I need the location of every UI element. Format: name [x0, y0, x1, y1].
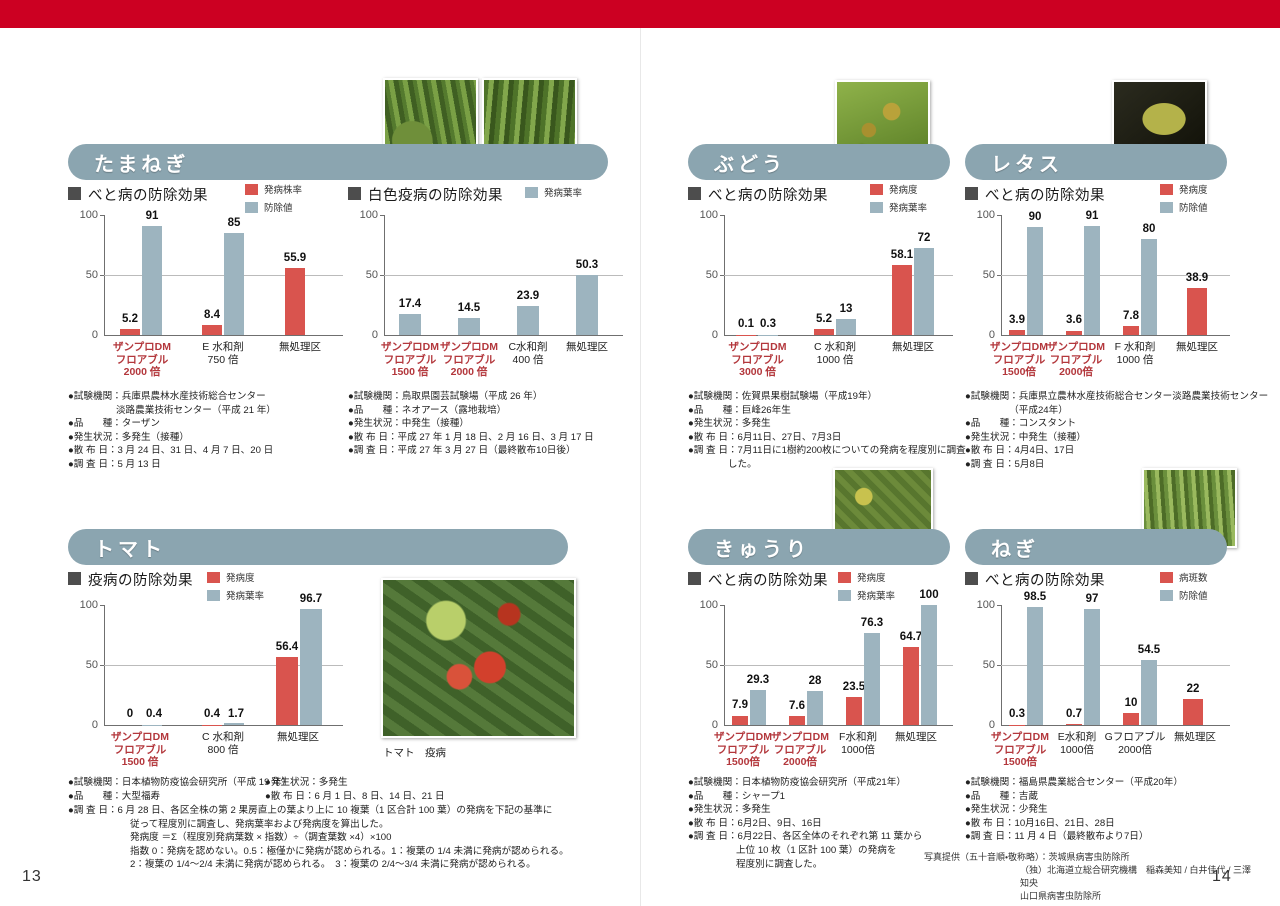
tomato-photo-caption: トマト 疫病: [383, 745, 446, 760]
bar-tomato-1-red: [202, 725, 222, 726]
section-pill-grape: ぶどう: [688, 144, 950, 180]
chart-title-text: 疫病の防除効果: [88, 569, 193, 590]
x-category-label: 無処理区: [868, 341, 958, 354]
note-line: ●発生状況：中発生（接種）: [348, 417, 638, 431]
note-value: ：5月8日: [1005, 458, 1044, 472]
y-tick-mark: [100, 665, 104, 666]
note-key: ●発生状況: [265, 776, 309, 790]
bullet-square-icon: [348, 187, 361, 200]
y-tick-label: 0: [68, 329, 98, 341]
bar-onion-0-blue: [142, 226, 162, 335]
note-line: ●品 種：ネオアース（露地栽培）: [348, 404, 638, 418]
note-key: ●品 種: [965, 790, 1009, 804]
note-key: ●品 種: [688, 404, 732, 418]
page-spine-divider: [640, 28, 641, 906]
note-key: ●散 布 日: [965, 444, 1005, 458]
note-value: ：平成 27 年 3 月 27 日（最終散布10日後）: [388, 444, 576, 458]
bar-value-label: 13: [824, 303, 868, 315]
note-line: ●調 査 日：11 月 4 日（最終散布より7日）: [965, 830, 1265, 844]
note-line: ●試験機関：鳥取県園芸試験場（平成 26 年）: [348, 390, 638, 404]
y-tick-mark: [380, 275, 384, 276]
bar-value-label: 0.4: [132, 708, 176, 720]
note-line: ●散 布 日：6月2日、9日、16日: [688, 817, 978, 831]
page-number-right: 14: [1212, 868, 1232, 886]
chart-plot-onion: 100 50 0 5.2 91 8.4 85 55.9 ザンプロDM フロアブル…: [68, 215, 343, 345]
y-tick-mark: [720, 605, 724, 606]
chart-title-grape: べと病の防除効果: [688, 184, 828, 205]
legend-item: 発病葉率: [525, 185, 582, 199]
note-value: ：大型福寿: [112, 790, 160, 804]
note-line: ●調 査 日：6月22日、各区全体のそれぞれ第 11 葉から: [688, 830, 978, 844]
bar-lettuce-1-red: [1066, 331, 1082, 336]
note-value: ：11 月 4 日（最終散布より7日）: [1005, 830, 1149, 844]
note-value: ：少発生: [1009, 803, 1047, 817]
note-value: ：3 月 24 日、31 日、4 月 7 日、20 日: [108, 444, 273, 458]
note-line: ●散 布 日：4月4日、17日: [965, 444, 1275, 458]
note-key: ●試験機関: [965, 776, 1009, 790]
section-pill-lettuce: レタス: [965, 144, 1227, 180]
note-line: ●品 種：コンスタント: [965, 417, 1275, 431]
y-tick-mark: [720, 665, 724, 666]
legend-label: 病斑数: [1179, 570, 1208, 584]
note-line: ●発生状況：中発生（接種）: [965, 431, 1275, 445]
credits-line: （独）北海道立総合研究機構 稲森美知 / 白井佳代 / 三澤知央: [924, 864, 1254, 890]
chart-title-text: べと病の防除効果: [985, 569, 1105, 590]
note-line: ●品 種：巨峰26年生: [688, 404, 973, 418]
top-red-banner: [0, 0, 1280, 28]
legend-swatch-red: [870, 184, 883, 195]
note-key: ●調 査 日: [688, 444, 728, 471]
note-line: ●調 査 日：5月8日: [965, 458, 1275, 472]
note-value: ：ネオアース（露地栽培）: [392, 404, 506, 418]
bar-onionwhite-1: [458, 318, 480, 335]
note-line: ●散 布 日：6 月 1 日、8 日、14 日、21 日: [265, 790, 555, 804]
bar-onionwhite-0: [399, 314, 421, 335]
legend-label: 防除値: [264, 200, 293, 214]
bar-value-label: 100: [908, 589, 950, 601]
note-line: ●調 査 日：6 月 28 日、各区全株の第 2 果房直上の葉より上に 10 複…: [68, 804, 628, 818]
y-tick-mark: [100, 215, 104, 216]
bar-value-label: 55.9: [271, 252, 319, 264]
bar-grape-2-blue: [914, 248, 934, 335]
note-line: ●散 布 日：6月11日、27日、7月3日: [688, 431, 973, 445]
legend-cucumber: 発病度 発病葉率: [838, 570, 895, 606]
chart-title-negi: べと病の防除効果: [965, 569, 1105, 590]
y-tick-label: 0: [688, 329, 718, 341]
y-tick-label: 100: [68, 599, 98, 611]
legend-onion-white: 発病葉率: [525, 185, 582, 203]
chart-title-text: べと病の防除効果: [88, 184, 208, 205]
bar-tomato-1-blue: [224, 723, 244, 725]
chart-title-onion-white: 白色疫病の防除効果: [348, 184, 503, 205]
x-axis: [1001, 335, 1230, 336]
x-category-label: 無処理区: [876, 731, 956, 744]
x-category-label: 無処理区: [1155, 731, 1235, 744]
notes-grape: ●試験機関：佐賀県果樹試験場（平成19年） ●品 種：巨峰26年生 ●発生状況：…: [688, 390, 973, 472]
note-key: ●品 種: [68, 417, 112, 431]
note-value: ：10月16日、21日、28日: [1005, 817, 1115, 831]
legend-label: 発病度: [1179, 182, 1208, 196]
note-key: ●発生状況: [688, 803, 732, 817]
bar-onionwhite-3: [576, 275, 598, 335]
legend-swatch-red: [245, 184, 258, 195]
legend-item: 防除値: [1160, 200, 1208, 214]
x-axis: [724, 725, 953, 726]
note-value: 上位 10 枚（1 区計 100 葉）の発病を: [688, 844, 896, 858]
note-key: ●品 種: [688, 790, 732, 804]
bar-value-label: 72: [902, 232, 946, 244]
y-tick-label: 100: [68, 209, 98, 221]
bar-value-label: 38.9: [1174, 272, 1220, 284]
bar-value-label: 80: [1130, 223, 1168, 235]
x-category-label: 無処理区: [547, 341, 627, 354]
legend-label: 防除値: [1179, 200, 1208, 214]
bar-value-label: 17.4: [386, 298, 434, 310]
legend-negi: 病斑数 防除値: [1160, 570, 1208, 606]
legend-item: 発病葉率: [207, 588, 264, 602]
note-line: ●品 種：シャープ1: [688, 790, 978, 804]
y-tick-label: 100: [348, 209, 378, 221]
note-line: ●試験機関：佐賀県果樹試験場（平成19年）: [688, 390, 973, 404]
note-value: ：多発生: [732, 417, 770, 431]
legend-item: 防除値: [1160, 588, 1208, 602]
note-key: ●発生状況: [688, 417, 732, 431]
notes-tomato-survey: ●調 査 日：6 月 28 日、各区全株の第 2 果房直上の葉より上に 10 複…: [68, 804, 628, 872]
bar-lettuce-1-blue: [1084, 226, 1100, 335]
note-line: ●散 布 日：3 月 24 日、31 日、4 月 7 日、20 日: [68, 444, 348, 458]
note-key: ●試験機関: [68, 390, 112, 404]
bullet-square-icon: [68, 572, 81, 585]
y-tick-label: 50: [688, 269, 718, 281]
note-line: ●調 査 日：平成 27 年 3 月 27 日（最終散布10日後）: [348, 444, 638, 458]
note-value: ：6月22日、各区全体のそれぞれ第 11 葉から: [728, 830, 922, 844]
chart-plot-grape: 100 50 0 0.1 0.3 5.2 13 58.1 72 ザンプロDM フ…: [688, 215, 953, 345]
y-tick-mark: [997, 275, 1001, 276]
y-tick-label: 0: [965, 329, 995, 341]
note-line: ●調 査 日：5 月 13 日: [68, 458, 348, 472]
page-number-left: 13: [22, 868, 42, 886]
note-key: ●調 査 日: [965, 458, 1005, 472]
note-value: ：6月11日、27日、7月3日: [728, 431, 841, 445]
chart-title-text: べと病の防除効果: [708, 184, 828, 205]
x-category-label: ザンプロDM フロアブル 1500 倍: [92, 731, 188, 769]
bar-value-label: 22: [1171, 683, 1215, 695]
bar-value-label: 54.5: [1128, 644, 1170, 656]
x-axis: [104, 725, 343, 726]
document-page: べと病 白色疫病 べと病 べと病 べと病 べと病 トマト 疫病 たまねぎ べと病…: [0, 0, 1280, 906]
bar-lettuce-3-red: [1187, 288, 1207, 335]
note-line: ●発生状況：多発生: [265, 776, 555, 790]
note-key: ●品 種: [965, 417, 1009, 431]
chart-title-cucumber: べと病の防除効果: [688, 569, 828, 590]
note-continuation: 2：複葉の 1/4〜2/4 未満に発病が認められる。 3：複葉の 2/4〜3/4…: [68, 858, 628, 872]
note-key: ●品 種: [348, 404, 392, 418]
note-value: ：7月11日に1樹約200枚についての発病を程度別に調査した。: [728, 444, 973, 471]
note-value: ：福島県農業総合センター（平成20年）: [1009, 776, 1183, 790]
bar-tomato-2-red: [276, 657, 298, 725]
bar-value-label: 1.7: [214, 708, 258, 720]
note-value: ：多発生: [732, 803, 770, 817]
bar-onion-2-red: [285, 268, 305, 335]
note-key: ●散 布 日: [348, 431, 388, 445]
chart-plot-lettuce: 100 50 0 3.9 90 3.6 91 7.8 80 38.9 ザンプロD…: [965, 215, 1230, 345]
x-category-label: ザンプロDM フロアブル 2000 倍: [92, 341, 192, 379]
note-key: ●発生状況: [348, 417, 392, 431]
y-tick-label: 50: [688, 659, 718, 671]
legend-label: 発病葉率: [544, 185, 582, 199]
section-pill-negi: ねぎ: [965, 529, 1227, 565]
legend-tomato: 発病度 発病葉率: [207, 570, 264, 606]
bullet-square-icon: [688, 187, 701, 200]
legend-swatch-red: [1160, 184, 1173, 195]
note-line: ●調 査 日：7月11日に1樹約200枚についての発病を程度別に調査した。: [688, 444, 973, 471]
bar-value-label: 0.3: [746, 318, 790, 330]
x-category-label: 無処理区: [1158, 341, 1236, 354]
chart-plot-negi: 100 50 0 0.3 98.5 0.7 97 10 54.5 22 ザンプロ…: [965, 605, 1230, 735]
note-value: ：兵庫県立農林水産技術総合センター淡路農業技術センター（平成24年）: [1009, 390, 1275, 417]
bar-cucumber-1-blue: [807, 691, 823, 725]
note-line: 淡路農業技術センター（平成 21 年）: [68, 404, 348, 418]
section-pill-label: たまねぎ: [68, 148, 189, 177]
x-axis: [384, 335, 623, 336]
legend-swatch-blue: [1160, 590, 1173, 601]
legend-label: 発病葉率: [857, 588, 895, 602]
chart-title-onion: べと病の防除効果: [68, 184, 208, 205]
note-line: ●発生状況：多発生: [688, 417, 973, 431]
note-key: ●散 布 日: [68, 444, 108, 458]
legend-lettuce: 発病度 防除値: [1160, 182, 1208, 218]
legend-label: 発病株率: [264, 182, 302, 196]
bar-negi-2-red: [1123, 713, 1139, 725]
legend-item: 発病度: [838, 570, 895, 584]
y-tick-label: 50: [68, 659, 98, 671]
note-line: ●品 種：ターザン: [68, 417, 348, 431]
note-value: ：4月4日、17日: [1005, 444, 1074, 458]
note-line: ●試験機関：日本植物防疫協会研究所（平成21年）: [688, 776, 978, 790]
note-line: ●試験機関：福島県農業総合センター（平成20年）: [965, 776, 1265, 790]
legend-item: 病斑数: [1160, 570, 1208, 584]
y-tick-label: 100: [965, 209, 995, 221]
note-value: ：6 月 28 日、各区全株の第 2 果房直上の葉より上に 10 複葉（1 区合…: [108, 804, 552, 818]
photo-credits: 写真提供（五十音順・敬称略）：茨城県病害虫防除所 （独）北海道立総合研究機構 稲…: [924, 851, 1254, 903]
x-axis: [1001, 725, 1230, 726]
x-axis: [724, 335, 953, 336]
section-pill-label: トマト: [68, 533, 166, 562]
x-category-label: C 水和剤 1000 倍: [790, 341, 880, 366]
y-tick-mark: [100, 605, 104, 606]
legend-item: 発病株率: [245, 182, 302, 196]
y-tick-label: 0: [68, 719, 98, 731]
chart-title-text: べと病の防除効果: [985, 184, 1105, 205]
note-value: 淡路農業技術センター（平成 21 年）: [68, 404, 276, 418]
bar-tomato-0-blue: [142, 725, 162, 726]
y-tick-mark: [380, 215, 384, 216]
y-tick-mark: [997, 665, 1001, 666]
legend-swatch-red: [838, 572, 851, 583]
y-tick-label: 100: [688, 599, 718, 611]
bar-value-label: 23.9: [504, 290, 552, 302]
note-continuation: 従って程度別に調査し、発病葉率および発病度を算出した。: [68, 818, 628, 832]
bar-onion-0-red: [120, 329, 140, 335]
note-line: ●発生状況：多発生（接種）: [68, 431, 348, 445]
bullet-square-icon: [688, 572, 701, 585]
note-continuation: 発病度 ＝Σ（程度別発病葉数 × 指数）÷（調査葉数 ×4）×100: [68, 831, 628, 845]
y-tick-mark: [997, 605, 1001, 606]
y-tick-label: 100: [688, 209, 718, 221]
bar-value-label: 97: [1071, 593, 1113, 605]
y-tick-label: 50: [68, 269, 98, 281]
note-key: ●調 査 日: [68, 804, 108, 818]
section-pill-label: ねぎ: [965, 533, 1039, 562]
legend-swatch-red: [207, 572, 220, 583]
note-key: ●試験機関: [688, 776, 732, 790]
note-continuation: 指数 0：発病を認めない。0.5：極僅かに発病が認められる。1：複葉の 1/4 …: [68, 845, 628, 859]
section-pill-onion: たまねぎ: [68, 144, 608, 180]
note-line: ●試験機関：兵庫県立農林水産技術総合センター淡路農業技術センター（平成24年）: [965, 390, 1275, 417]
notes-onion: ●試験機関：兵庫県農林水産技術総合センター 淡路農業技術センター（平成 21 年…: [68, 390, 348, 472]
bar-cucumber-0-red: [732, 716, 748, 726]
bar-cucumber-0-blue: [750, 690, 766, 725]
chart-title-text: 白色疫病の防除効果: [368, 184, 503, 205]
y-tick-label: 0: [965, 719, 995, 731]
bar-onion-1-red: [202, 325, 222, 335]
note-key: ●試験機関: [68, 776, 112, 790]
y-tick-label: 0: [348, 329, 378, 341]
note-value: ：吉蔵: [1009, 790, 1038, 804]
bar-cucumber-3-blue: [921, 605, 937, 725]
legend-item: 発病葉率: [870, 200, 927, 214]
bar-value-label: 96.7: [287, 593, 335, 605]
note-value: ：シャープ1: [732, 790, 785, 804]
bar-tomato-2-blue: [300, 609, 322, 725]
section-pill-label: ぶどう: [688, 148, 786, 177]
bar-value-label: 91: [1073, 210, 1111, 222]
note-key: ●調 査 日: [348, 444, 388, 458]
legend-item: 発病度: [1160, 182, 1208, 196]
chart-title-text: べと病の防除効果: [708, 569, 828, 590]
bar-grape-1-red: [814, 329, 834, 335]
y-tick-label: 0: [688, 719, 718, 731]
note-value: ：中発生（接種）: [392, 417, 469, 431]
note-key: ●散 布 日: [688, 431, 728, 445]
note-value: ：巨峰26年生: [732, 404, 791, 418]
bar-value-label: 76.3: [851, 617, 893, 629]
bar-negi-0-blue: [1027, 607, 1043, 725]
bar-lettuce-0-red: [1009, 330, 1025, 335]
note-key: ●散 布 日: [265, 790, 305, 804]
note-key: ●発生状況: [68, 431, 112, 445]
legend-item: 発病葉率: [838, 588, 895, 602]
note-key: ●試験機関: [348, 390, 392, 404]
bar-lettuce-2-blue: [1141, 239, 1157, 335]
photo-tomato-late-blight: [381, 578, 576, 738]
bar-cucumber-2-red: [846, 697, 862, 725]
note-key: ●散 布 日: [688, 817, 728, 831]
bullet-square-icon: [68, 187, 81, 200]
credits-line: 山口県病害虫防除所: [924, 890, 1254, 903]
notes-tomato-right: ●発生状況：多発生 ●散 布 日：6 月 1 日、8 日、14 日、21 日: [265, 776, 555, 803]
note-key: ●散 布 日: [965, 817, 1005, 831]
legend-grape: 発病度 発病葉率: [870, 182, 927, 218]
note-line: ●試験機関：兵庫県農林水産技術総合センター: [68, 390, 348, 404]
note-value: ：多発生（接種）: [112, 431, 189, 445]
notes-lettuce: ●試験機関：兵庫県立農林水産技術総合センター淡路農業技術センター（平成24年） …: [965, 390, 1275, 472]
y-tick-mark: [720, 215, 724, 216]
note-value: 程度別に調査した。: [688, 858, 822, 872]
note-line: ●品 種：吉蔵: [965, 790, 1265, 804]
section-pill-label: きゅうり: [688, 533, 810, 562]
bar-grape-2-red: [892, 265, 912, 335]
note-key: ●発生状況: [965, 803, 1009, 817]
legend-item: 発病度: [870, 182, 927, 196]
legend-label: 発病葉率: [226, 588, 264, 602]
legend-swatch-blue: [245, 202, 258, 213]
bar-onion-1-blue: [224, 233, 244, 335]
note-value: ：5 月 13 日: [108, 458, 161, 472]
bar-value-label: 29.3: [737, 674, 779, 686]
note-value: ：6月2日、9日、16日: [728, 817, 822, 831]
x-category-label: 無処理区: [253, 731, 343, 744]
bar-value-label: 50.3: [563, 259, 611, 271]
note-value: ：中発生（接種）: [1009, 431, 1086, 445]
note-value: ：ターザン: [112, 417, 160, 431]
legend-swatch-red: [1160, 572, 1173, 583]
note-key: ●試験機関: [965, 390, 1009, 417]
chart-title-lettuce: べと病の防除効果: [965, 184, 1105, 205]
y-tick-mark: [720, 275, 724, 276]
legend-label: 発病度: [857, 570, 886, 584]
note-value: ：佐賀県果樹試験場（平成19年）: [732, 390, 877, 404]
x-category-label: 無処理区: [255, 341, 345, 354]
legend-onion: 発病株率 防除値: [245, 182, 302, 218]
bar-lettuce-2-red: [1123, 326, 1139, 335]
bar-value-label: 14.5: [445, 302, 493, 314]
bar-grape-1-blue: [836, 319, 856, 335]
y-tick-label: 50: [965, 269, 995, 281]
chart-plot-cucumber: 100 50 0 7.9 29.3 7.6 28 23.5 76.3 64.7 …: [688, 605, 953, 735]
legend-label: 発病度: [226, 570, 255, 584]
y-tick-label: 100: [965, 599, 995, 611]
bar-negi-2-blue: [1141, 660, 1157, 725]
credits-line: 写真提供（五十音順・敬称略）：茨城県病害虫防除所: [924, 851, 1254, 864]
legend-swatch-blue: [207, 590, 220, 601]
note-value: ：多発生: [309, 776, 347, 790]
note-line: ●発生状況：多発生: [688, 803, 978, 817]
bar-negi-1-blue: [1084, 609, 1100, 725]
note-value: ：コンスタント: [1009, 417, 1076, 431]
legend-item: 発病度: [207, 570, 264, 584]
legend-swatch-blue: [838, 590, 851, 601]
bar-lettuce-0-blue: [1027, 227, 1043, 335]
legend-swatch-blue: [525, 187, 538, 198]
legend-swatch-blue: [870, 202, 883, 213]
y-tick-label: 50: [965, 659, 995, 671]
y-tick-mark: [100, 275, 104, 276]
note-key: ●調 査 日: [68, 458, 108, 472]
bar-value-label: 91: [128, 210, 176, 222]
note-key: ●試験機関: [688, 390, 732, 404]
section-pill-label: レタス: [965, 148, 1063, 177]
y-tick-mark: [997, 215, 1001, 216]
bar-value-label: 98.5: [1014, 591, 1056, 603]
bar-negi-3-red: [1183, 699, 1203, 725]
note-key: ●調 査 日: [688, 830, 728, 844]
chart-plot-tomato: 100 50 0 0 0.4 0.4 1.7 56.4 96.7 ザンプロDM …: [68, 605, 343, 735]
bar-cucumber-1-red: [789, 716, 805, 725]
section-pill-cucumber: きゅうり: [688, 529, 950, 565]
chart-title-tomato: 疫病の防除効果: [68, 569, 193, 590]
legend-item: 防除値: [245, 200, 302, 214]
